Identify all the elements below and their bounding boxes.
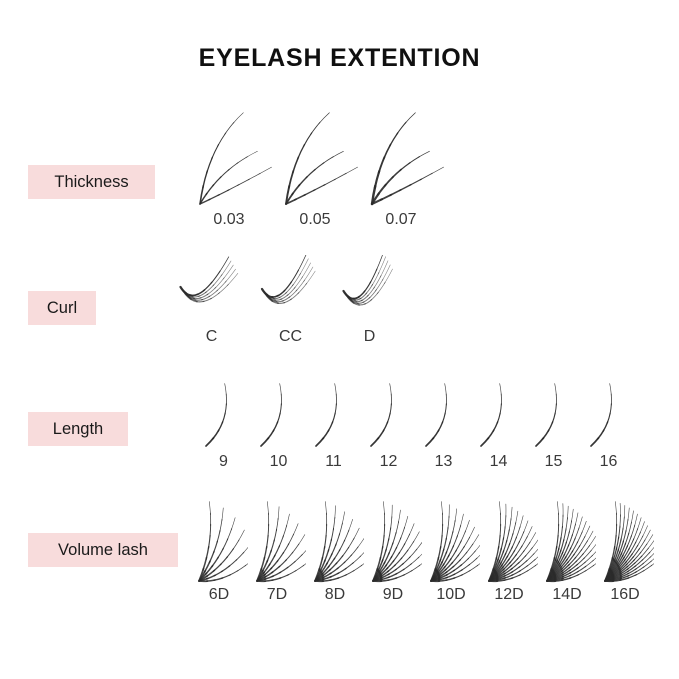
- lash-single-strand-icon: [471, 382, 526, 452]
- volume-item-label: 16D: [610, 586, 639, 604]
- thickness-item: 0.03: [186, 112, 272, 229]
- thickness-item: 0.05: [272, 112, 358, 229]
- row-label-volume-lash: Volume lash: [28, 533, 178, 567]
- thickness-item-label: 0.05: [299, 211, 330, 229]
- volume-item-label: 7D: [267, 586, 287, 604]
- length-item: 11: [306, 382, 361, 471]
- volume-item: 7D: [248, 495, 306, 604]
- lash-curl-cluster-icon: [251, 255, 330, 327]
- page-title: EYELASH EXTENTION: [0, 44, 679, 73]
- length-item-label: 9: [219, 453, 228, 471]
- length-item: 16: [581, 382, 636, 471]
- volume-item: 14D: [538, 495, 596, 604]
- row-length: Length 910111213141516: [0, 382, 679, 482]
- lash-fan-3-strand-icon: [358, 112, 444, 210]
- curl-item-label: CC: [279, 328, 302, 346]
- lash-single-strand-icon: [306, 382, 361, 452]
- thickness-item-list: 0.030.050.07: [186, 112, 444, 229]
- lash-volume-fan-icon: [480, 495, 538, 585]
- volume-item-label: 6D: [209, 586, 229, 604]
- length-item: 10: [251, 382, 306, 471]
- volume-item-label: 9D: [383, 586, 403, 604]
- volume-item-label: 10D: [436, 586, 465, 604]
- row-label-thickness: Thickness: [28, 165, 155, 199]
- thickness-item-label: 0.03: [213, 211, 244, 229]
- lash-curl-cluster-icon: [172, 255, 251, 327]
- curl-item-list: CCCD: [172, 255, 409, 346]
- row-label-length: Length: [28, 412, 128, 446]
- lash-single-strand-icon: [416, 382, 471, 452]
- curl-item: CC: [251, 255, 330, 346]
- eyelash-extension-chart: EYELASH EXTENTION Thickness 0.030.050.07…: [0, 0, 679, 679]
- curl-item-label: D: [364, 328, 376, 346]
- lash-single-strand-icon: [526, 382, 581, 452]
- lash-volume-fan-icon: [190, 495, 248, 585]
- volume-item-label: 8D: [325, 586, 345, 604]
- row-volume: Volume lash 6D7D8D9D10D12D14D16D: [0, 495, 679, 603]
- lash-volume-fan-icon: [248, 495, 306, 585]
- row-thickness: Thickness 0.030.050.07: [0, 112, 679, 237]
- length-item-label: 16: [600, 453, 618, 471]
- length-item-label: 11: [325, 453, 342, 471]
- length-item: 14: [471, 382, 526, 471]
- lash-fan-3-strand-icon: [272, 112, 358, 210]
- lash-volume-fan-icon: [306, 495, 364, 585]
- volume-item-label: 14D: [552, 586, 581, 604]
- length-item: 12: [361, 382, 416, 471]
- length-item-label: 12: [380, 453, 398, 471]
- length-item: 13: [416, 382, 471, 471]
- volume-item: 10D: [422, 495, 480, 604]
- length-item-label: 13: [435, 453, 453, 471]
- volume-lash-item-list: 6D7D8D9D10D12D14D16D: [190, 495, 654, 604]
- lash-curl-cluster-icon: [330, 255, 409, 327]
- volume-item: 12D: [480, 495, 538, 604]
- volume-item: 16D: [596, 495, 654, 604]
- curl-item: D: [330, 255, 409, 346]
- volume-item: 9D: [364, 495, 422, 604]
- length-item-label: 10: [270, 453, 288, 471]
- lash-volume-fan-icon: [538, 495, 596, 585]
- length-item-label: 15: [545, 453, 563, 471]
- lash-fan-3-strand-icon: [186, 112, 272, 210]
- lash-volume-fan-icon: [422, 495, 480, 585]
- length-item: 9: [196, 382, 251, 471]
- volume-item: 6D: [190, 495, 248, 604]
- lash-single-strand-icon: [196, 382, 251, 452]
- length-item-list: 910111213141516: [196, 382, 636, 471]
- curl-item-label: C: [206, 328, 218, 346]
- lash-volume-fan-icon: [364, 495, 422, 585]
- row-label-curl: Curl: [28, 291, 96, 325]
- volume-item: 8D: [306, 495, 364, 604]
- thickness-item: 0.07: [358, 112, 444, 229]
- volume-item-label: 12D: [494, 586, 523, 604]
- row-curl: Curl CCCD: [0, 255, 679, 360]
- lash-single-strand-icon: [581, 382, 636, 452]
- length-item-label: 14: [490, 453, 508, 471]
- lash-volume-fan-icon: [596, 495, 654, 585]
- curl-item: C: [172, 255, 251, 346]
- length-item: 15: [526, 382, 581, 471]
- thickness-item-label: 0.07: [385, 211, 416, 229]
- lash-single-strand-icon: [251, 382, 306, 452]
- lash-single-strand-icon: [361, 382, 416, 452]
